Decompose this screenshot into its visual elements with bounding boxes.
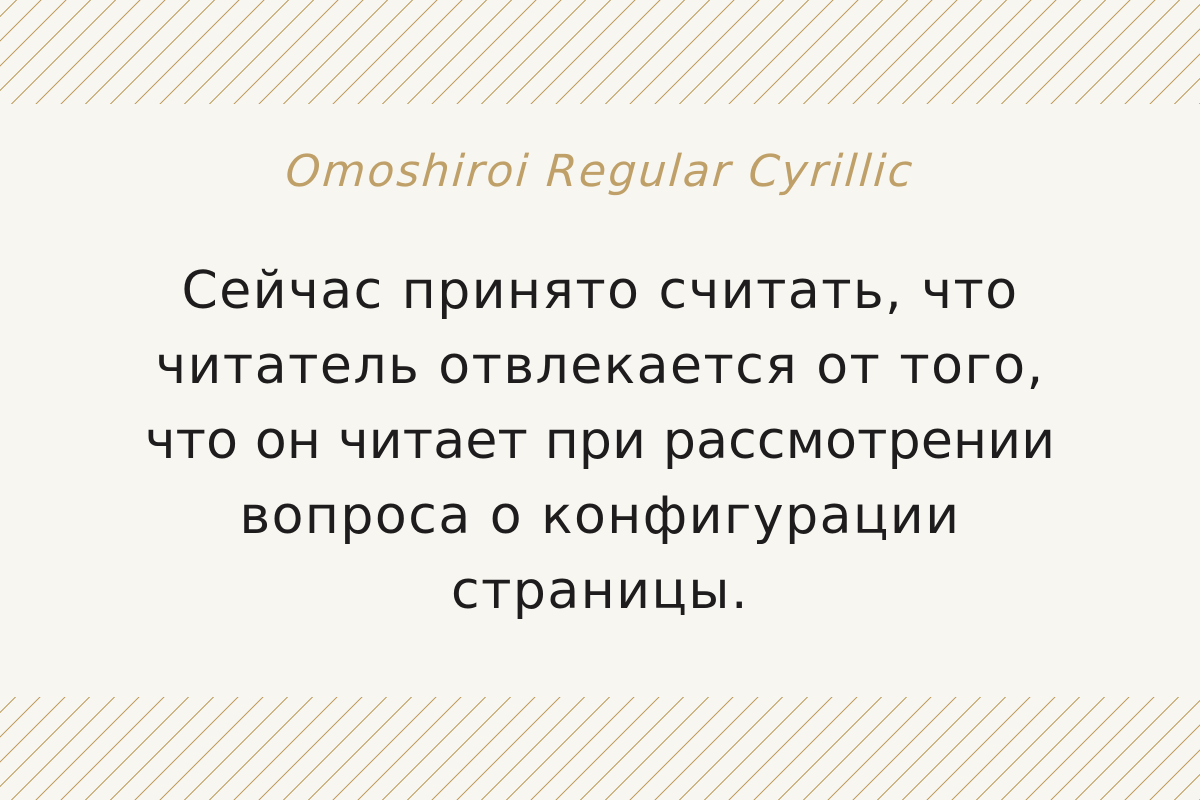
sample-text-line: страницы. <box>30 554 1170 629</box>
diagonal-hatch-band-top <box>0 0 1200 104</box>
font-name-title: Omoshiroi Regular Cyrillic <box>0 150 1200 194</box>
sample-paragraph: Сейчас принято считать, что читатель отв… <box>30 254 1170 629</box>
diagonal-hatch-band-bottom <box>0 697 1200 800</box>
specimen-plate: Omoshiroi Regular Cyrillic Сейчас принят… <box>0 104 1200 697</box>
sample-text-line: вопроса о конфигурации <box>30 479 1170 554</box>
sample-text-line: читатель отвлекается от того, <box>30 329 1170 404</box>
sample-text-line: Сейчас принято считать, что <box>30 254 1170 329</box>
sample-text-line: что он читает при рассмотрении <box>30 404 1170 479</box>
font-specimen-page: Omoshiroi Regular Cyrillic Сейчас принят… <box>0 0 1200 800</box>
